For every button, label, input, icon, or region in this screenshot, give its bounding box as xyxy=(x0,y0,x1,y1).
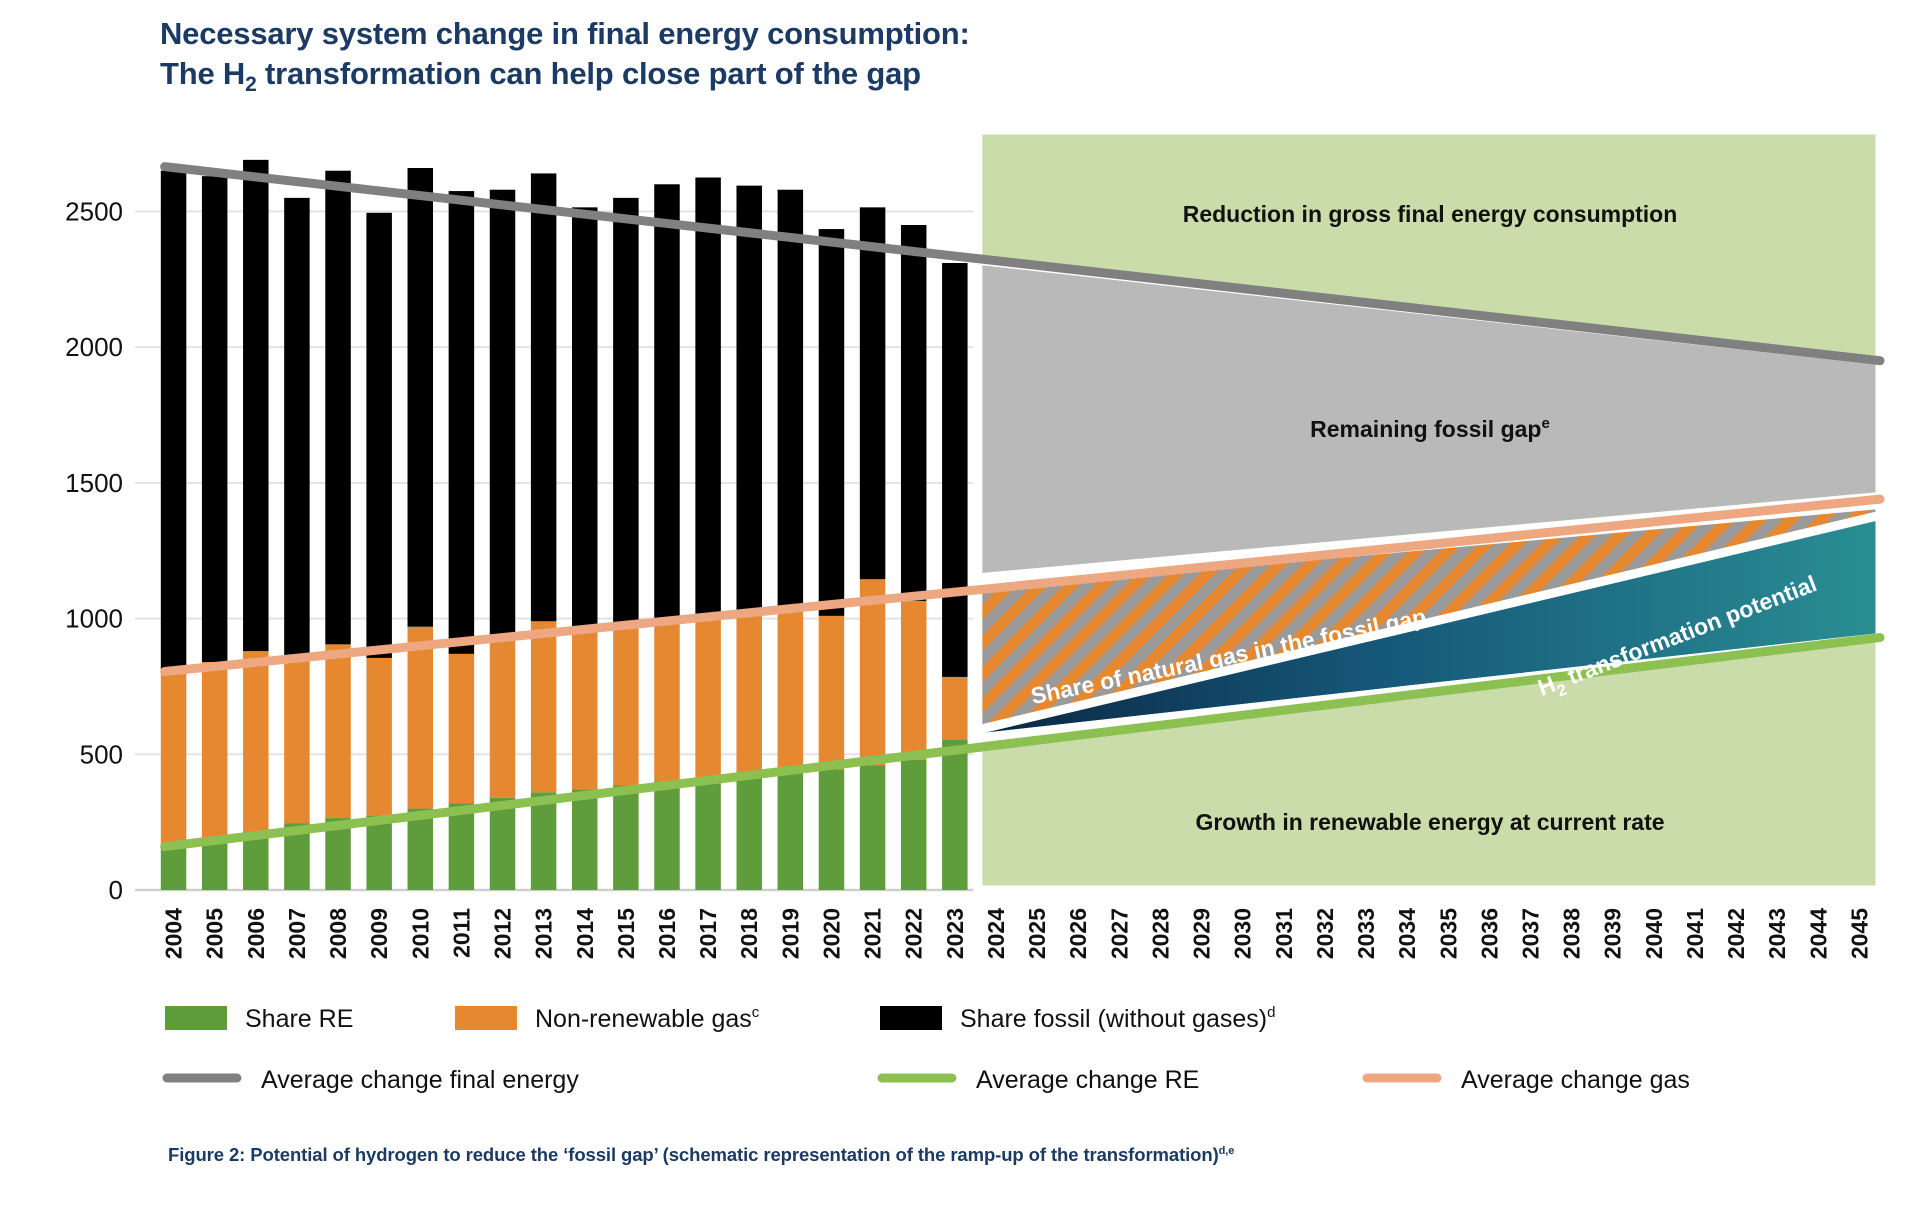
bar-non-renewable-gas-2016 xyxy=(654,619,679,782)
page-title: Necessary system change in final energy … xyxy=(160,14,1260,99)
bar-group-2005 xyxy=(202,176,227,890)
bar-group-2018 xyxy=(736,186,761,890)
legend-label-text: Share RE xyxy=(245,1005,353,1033)
x-tick-2006: 2006 xyxy=(243,908,269,959)
x-tick-2040: 2040 xyxy=(1641,908,1667,959)
bar-group-2023 xyxy=(942,263,967,890)
bar-non-renewable-gas-2018 xyxy=(736,615,761,777)
y-tick-2000: 2000 xyxy=(65,332,123,362)
x-tick-2041: 2041 xyxy=(1682,908,1708,959)
bar-share-re-2011 xyxy=(449,803,474,890)
y-tick-2500: 2500 xyxy=(65,196,123,226)
legend-label-avg_change_final_energy: Average change final energy xyxy=(261,1066,579,1094)
bar-non-renewable-gas-2006 xyxy=(243,651,268,832)
x-tick-2026: 2026 xyxy=(1065,908,1091,959)
legend-item-share_fossil[interactable]: Share fossil (without gases)d xyxy=(880,1004,1275,1033)
x-axis-tick-labels: 2004200520062007200820092010201120122013… xyxy=(161,908,1873,959)
bar-share-fossil-2008 xyxy=(325,171,350,645)
bar-non-renewable-gas-2017 xyxy=(695,616,720,779)
x-tick-2019: 2019 xyxy=(777,908,803,959)
bar-non-renewable-gas-2015 xyxy=(613,625,638,785)
bar-share-re-2018 xyxy=(736,776,761,890)
bar-share-fossil-2014 xyxy=(572,207,597,629)
legend-label-text: Average change RE xyxy=(976,1066,1199,1094)
x-tick-2009: 2009 xyxy=(366,908,392,959)
bar-share-re-2019 xyxy=(778,772,803,890)
figure-caption-superscript: d,e xyxy=(1219,1145,1235,1157)
bar-group-2008 xyxy=(325,171,350,890)
x-tick-2038: 2038 xyxy=(1559,908,1585,959)
legend-label-text: Average change final energy xyxy=(261,1066,579,1094)
x-tick-2005: 2005 xyxy=(202,908,228,959)
legend-swatch-share_fossil xyxy=(880,1006,942,1030)
legend-item-avg_change_re[interactable]: Average change RE xyxy=(882,1066,1199,1094)
energy-consumption-chart: 05001000150020002500 Reduction in gross … xyxy=(0,0,1920,1110)
bar-group-2009 xyxy=(366,213,391,890)
bar-share-fossil-2009 xyxy=(366,213,391,658)
zone-label-main: Remaining fossil gap xyxy=(1310,416,1541,442)
figure-caption-text: Figure 2: Potential of hydrogen to reduc… xyxy=(168,1144,1219,1165)
x-tick-2045: 2045 xyxy=(1846,908,1872,959)
bar-share-fossil-2006 xyxy=(243,160,268,651)
bar-share-re-2022 xyxy=(901,760,926,890)
bar-non-renewable-gas-2021 xyxy=(860,579,885,765)
zone-label-renewable_growth: Growth in renewable energy at current ra… xyxy=(1195,809,1664,835)
x-tick-2025: 2025 xyxy=(1024,908,1050,959)
bar-non-renewable-gas-2013 xyxy=(531,621,556,792)
bar-share-re-2023 xyxy=(942,739,967,890)
legend-item-non_renewable_gas[interactable]: Non-renewable gasc xyxy=(455,1004,760,1033)
x-tick-2023: 2023 xyxy=(942,908,968,959)
bar-share-fossil-2005 xyxy=(202,176,227,662)
zone-label-reduction: Reduction in gross final energy consumpt… xyxy=(1183,201,1678,227)
title-line-2: The H2 transformation can help close par… xyxy=(160,54,1260,98)
bar-non-renewable-gas-2020 xyxy=(819,616,844,769)
legend-label-share_fossil: Share fossil (without gases)d xyxy=(960,1004,1275,1033)
x-tick-2030: 2030 xyxy=(1230,908,1256,959)
y-tick-1500: 1500 xyxy=(65,468,123,498)
x-tick-2021: 2021 xyxy=(860,908,886,959)
title-h2-subscript: 2 xyxy=(245,73,256,96)
y-tick-1000: 1000 xyxy=(65,604,123,634)
x-tick-2032: 2032 xyxy=(1312,908,1338,959)
bar-share-fossil-2013 xyxy=(531,173,556,621)
x-tick-2035: 2035 xyxy=(1435,908,1461,959)
legend-item-share_re[interactable]: Share RE xyxy=(165,1005,353,1033)
zone-label-main: Growth in renewable energy at current ra… xyxy=(1195,809,1664,835)
bar-group-2010 xyxy=(408,168,433,890)
x-tick-2031: 2031 xyxy=(1271,908,1297,959)
bar-non-renewable-gas-2007 xyxy=(284,661,309,824)
bar-group-2012 xyxy=(490,190,515,890)
bar-non-renewable-gas-2004 xyxy=(161,670,186,846)
bar-non-renewable-gas-2009 xyxy=(366,658,391,815)
x-tick-2029: 2029 xyxy=(1189,908,1215,959)
bar-non-renewable-gas-2008 xyxy=(325,644,350,818)
bar-group-2006 xyxy=(243,160,268,890)
y-axis-tick-labels: 05001000150020002500 xyxy=(65,196,123,905)
bar-group-2013 xyxy=(531,173,556,890)
bar-share-fossil-2023 xyxy=(942,263,967,677)
bar-group-2022 xyxy=(901,225,926,890)
bar-share-fossil-2017 xyxy=(695,178,720,616)
bar-non-renewable-gas-2011 xyxy=(449,654,474,803)
bar-share-fossil-2011 xyxy=(449,191,474,654)
bar-share-re-2020 xyxy=(819,769,844,890)
chart-legend: Share RENon-renewable gascShare fossil (… xyxy=(165,1004,1690,1094)
x-tick-2042: 2042 xyxy=(1723,908,1749,959)
bar-group-2019 xyxy=(778,190,803,890)
bar-non-renewable-gas-2022 xyxy=(901,601,926,760)
legend-swatch-non_renewable_gas xyxy=(455,1006,517,1030)
bar-share-fossil-2021 xyxy=(860,207,885,579)
legend-label-text: Non-renewable gas xyxy=(535,1005,752,1033)
legend-item-avg_change_gas[interactable]: Average change gas xyxy=(1367,1066,1690,1094)
legend-label-share_re: Share RE xyxy=(245,1005,353,1033)
bar-share-fossil-2010 xyxy=(408,168,433,627)
zone-label-main: Reduction in gross final energy consumpt… xyxy=(1183,201,1678,227)
x-tick-2036: 2036 xyxy=(1476,908,1502,959)
x-tick-2020: 2020 xyxy=(818,908,844,959)
x-tick-2024: 2024 xyxy=(983,908,1009,959)
bar-group-2021 xyxy=(860,207,885,890)
x-tick-2013: 2013 xyxy=(531,908,557,959)
bar-share-fossil-2016 xyxy=(654,184,679,618)
bar-non-renewable-gas-2019 xyxy=(778,609,803,772)
bar-share-re-2009 xyxy=(366,815,391,890)
legend-swatch-share_re xyxy=(165,1006,227,1030)
bar-share-fossil-2018 xyxy=(736,186,761,615)
bar-share-re-2021 xyxy=(860,765,885,890)
bar-share-re-2004 xyxy=(161,847,186,890)
y-tick-500: 500 xyxy=(80,739,123,769)
bar-group-2020 xyxy=(819,229,844,890)
bar-non-renewable-gas-2014 xyxy=(572,629,597,789)
legend-label-non_renewable_gas: Non-renewable gasc xyxy=(535,1004,760,1033)
x-tick-2014: 2014 xyxy=(572,908,598,959)
figure-page: Necessary system change in final energy … xyxy=(0,0,1920,1214)
x-tick-2027: 2027 xyxy=(1106,908,1132,959)
zone-label-superscript: e xyxy=(1541,415,1549,432)
x-tick-2022: 2022 xyxy=(901,908,927,959)
x-tick-2028: 2028 xyxy=(1147,908,1173,959)
x-tick-2033: 2033 xyxy=(1353,908,1379,959)
x-tick-2043: 2043 xyxy=(1764,908,1790,959)
bar-share-fossil-2004 xyxy=(161,171,186,670)
bar-non-renewable-gas-2005 xyxy=(202,662,227,840)
bar-group-2014 xyxy=(572,207,597,890)
bar-share-fossil-2012 xyxy=(490,190,515,641)
legend-item-avg_change_final_energy[interactable]: Average change final energy xyxy=(167,1066,579,1094)
bar-non-renewable-gas-2012 xyxy=(490,640,515,797)
figure-caption: Figure 2: Potential of hydrogen to reduc… xyxy=(168,1144,1234,1166)
stacked-bars xyxy=(161,160,968,890)
bar-group-2007 xyxy=(284,198,309,890)
bar-share-fossil-2020 xyxy=(819,229,844,616)
bar-share-fossil-2022 xyxy=(901,225,926,601)
x-tick-2034: 2034 xyxy=(1394,908,1420,959)
x-tick-2008: 2008 xyxy=(325,908,351,959)
bar-share-fossil-2015 xyxy=(613,198,638,626)
title-line-2-pre: The H xyxy=(160,56,245,91)
bar-group-2004 xyxy=(161,171,186,890)
x-tick-2007: 2007 xyxy=(284,908,310,959)
bar-group-2011 xyxy=(449,191,474,890)
bar-share-re-2017 xyxy=(695,779,720,890)
x-tick-2018: 2018 xyxy=(736,908,762,959)
x-tick-2010: 2010 xyxy=(407,908,433,959)
legend-label-avg_change_gas: Average change gas xyxy=(1461,1066,1690,1094)
x-tick-2044: 2044 xyxy=(1805,908,1831,959)
x-tick-2017: 2017 xyxy=(695,908,721,959)
legend-label-superscript: d xyxy=(1267,1004,1275,1021)
bar-share-fossil-2007 xyxy=(284,198,309,661)
x-tick-2039: 2039 xyxy=(1600,908,1626,959)
title-line-2-post: transformation can help close part of th… xyxy=(257,56,921,91)
bar-non-renewable-gas-2023 xyxy=(942,677,967,739)
title-line-1: Necessary system change in final energy … xyxy=(160,14,1260,54)
bar-share-re-2005 xyxy=(202,840,227,890)
zone-label-fossil_gap: Remaining fossil gape xyxy=(1310,415,1550,442)
legend-label-avg_change_re: Average change RE xyxy=(976,1066,1199,1094)
bar-share-fossil-2019 xyxy=(778,190,803,609)
x-tick-2011: 2011 xyxy=(448,908,474,958)
legend-label-superscript: c xyxy=(752,1004,760,1021)
x-tick-2015: 2015 xyxy=(613,908,639,959)
x-tick-2016: 2016 xyxy=(654,908,680,959)
legend-label-text: Share fossil (without gases) xyxy=(960,1005,1267,1033)
bar-non-renewable-gas-2010 xyxy=(408,627,433,809)
x-tick-2012: 2012 xyxy=(490,908,516,959)
x-tick-2037: 2037 xyxy=(1517,908,1543,959)
bar-share-re-2013 xyxy=(531,792,556,890)
bar-share-re-2014 xyxy=(572,790,597,890)
bar-share-re-2012 xyxy=(490,798,515,890)
legend-label-text: Average change gas xyxy=(1461,1066,1690,1094)
bar-share-re-2016 xyxy=(654,781,679,890)
bar-share-re-2015 xyxy=(613,786,638,891)
y-tick-0: 0 xyxy=(109,875,123,905)
x-tick-2004: 2004 xyxy=(161,908,187,959)
